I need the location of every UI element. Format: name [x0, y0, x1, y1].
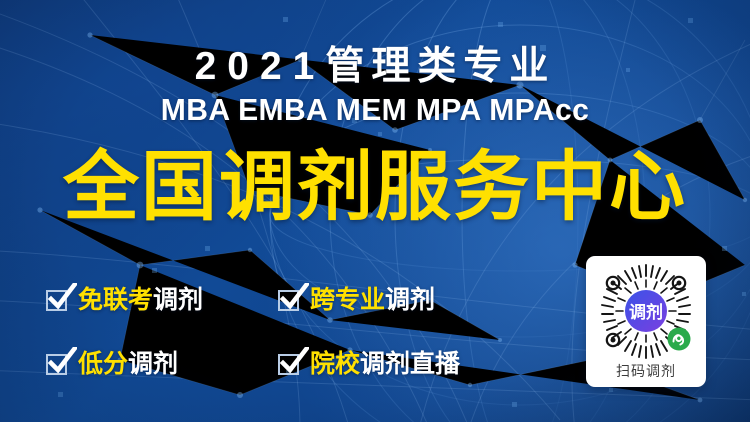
headline-programs: MBA EMBA MEM MPA MPAcc [11, 94, 739, 127]
checkbox-checked-icon [278, 354, 299, 375]
feature-label-1: 免联考调剂 [78, 288, 203, 313]
feature-rest-3: 调剂 [128, 350, 178, 378]
feature-item-4: 院校调剂直播 [278, 352, 528, 377]
qr-code-image[interactable]: 调剂 [593, 261, 699, 361]
feature-label-2: 跨专业调剂 [310, 288, 435, 313]
feature-label-3: 低分调剂 [78, 352, 178, 377]
promo-banner: 2021管理类专业 MBA EMBA MEM MPA MPAcc 全国调剂服务中… [0, 0, 750, 422]
feature-item-3: 低分调剂 [46, 352, 278, 377]
checkbox-checked-icon [46, 354, 67, 375]
qr-code-card[interactable]: 调剂 扫码调剂 [586, 256, 706, 387]
feature-label-4: 院校调剂直播 [310, 352, 460, 377]
page-title: 全国调剂服务中心 [0, 150, 750, 226]
feature-highlight-3: 低分 [78, 350, 128, 378]
feature-highlight-1: 免联考 [78, 286, 153, 314]
checkbox-checked-icon [46, 290, 67, 311]
feature-item-2: 跨专业调剂 [278, 288, 528, 313]
headline-year-line: 2021管理类专业 [0, 46, 750, 88]
headline-year: 2021 [195, 45, 326, 88]
checkbox-checked-icon [278, 290, 299, 311]
feature-rest-1: 调剂 [153, 286, 203, 314]
feature-item-1: 免联考调剂 [46, 288, 278, 313]
feature-rest-4: 调剂直播 [360, 350, 460, 378]
feature-highlight-4: 院校 [310, 350, 360, 378]
qr-caption: 扫码调剂 [586, 364, 706, 378]
wechat-miniprogram-icon [668, 328, 691, 351]
qr-logo-text: 调剂 [629, 302, 663, 322]
headline-block: 2021管理类专业 MBA EMBA MEM MPA MPAcc [0, 46, 750, 127]
feature-list: 免联考调剂 跨专业调剂 [46, 268, 566, 396]
headline-year-suffix: 管理类专业 [325, 45, 555, 88]
feature-highlight-2: 跨专业 [310, 286, 385, 314]
feature-rest-2: 调剂 [385, 286, 435, 314]
